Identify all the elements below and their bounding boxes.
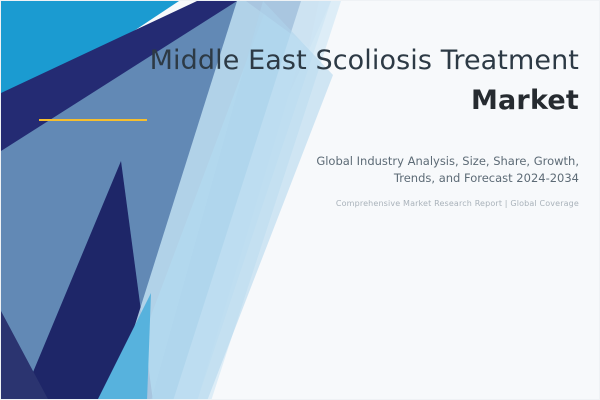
report-caption: Comprehensive Market Research Report | G… xyxy=(119,199,579,208)
subtitle-line-2: Trends, and Forecast 2024-2034 xyxy=(159,170,579,187)
emphasis-title-group: Market xyxy=(39,85,579,121)
subtitle-line-1: Global Industry Analysis, Size, Share, G… xyxy=(159,153,579,170)
accent-underline xyxy=(39,119,147,121)
report-cover: Middle East Scoliosis Treatment Market G… xyxy=(0,0,600,400)
page-title: Middle East Scoliosis Treatment xyxy=(39,45,579,76)
subtitle: Global Industry Analysis, Size, Share, G… xyxy=(159,153,579,188)
cover-text-layer: Middle East Scoliosis Treatment Market G… xyxy=(1,1,600,400)
emphasis-title: Market xyxy=(471,85,579,116)
